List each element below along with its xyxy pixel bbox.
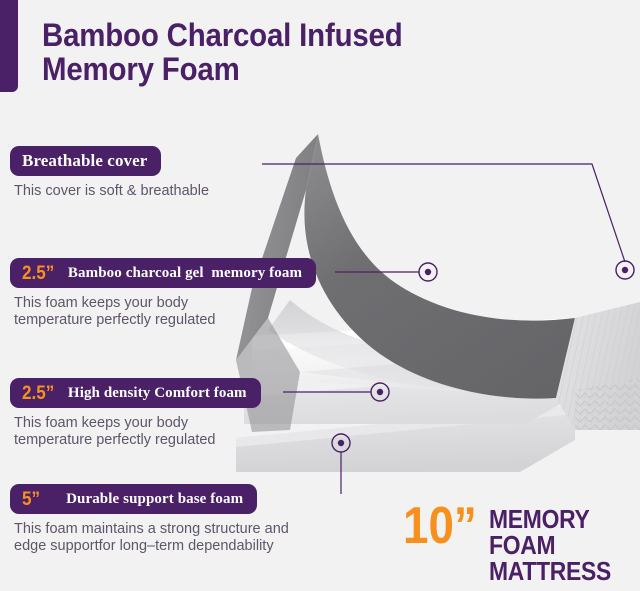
connector-lines <box>262 164 625 494</box>
marker-breathable-cover <box>616 261 634 279</box>
badge-breathable-cover[interactable]: Breathable cover <box>10 146 161 176</box>
connector-markers <box>332 261 634 452</box>
callout-comfort-foam: 2.5” High density Comfort foam This foam… <box>10 378 261 449</box>
marker-base-foam <box>332 434 350 452</box>
badge-gel-memory-foam[interactable]: 2.5” Bamboo charcoal gel memory foam <box>10 258 316 288</box>
badge-label: Breathable cover <box>22 153 147 169</box>
layer-comfort-foam <box>244 360 583 424</box>
callout-gel-memory-foam: 2.5” Bamboo charcoal gel memory foam Thi… <box>10 258 316 329</box>
badge-size: 2.5” <box>22 264 54 283</box>
product-name: MEMORY FOAM MATTRESS <box>489 506 622 584</box>
badge-label: High density Comfort foam <box>68 385 247 401</box>
badge-label: Durable support base foam <box>66 491 243 507</box>
marker-gel-memory-foam <box>419 263 437 281</box>
callout-description: This foam keeps your body temperature pe… <box>14 295 316 329</box>
connector-breathable-cover <box>262 164 625 262</box>
badge-label: Bamboo charcoal gel memory foam <box>68 265 302 281</box>
title-accent-bar <box>0 0 18 92</box>
layer-base-foam <box>236 405 575 472</box>
infographic-page: Bamboo Charcoal Infused Memory Foam <box>0 0 640 591</box>
side-fabric-panel <box>556 302 640 430</box>
callout-description: This foam maintains a strong structure a… <box>14 521 289 555</box>
callout-base-foam: 5” Durable support base foam This foam m… <box>10 484 289 555</box>
callout-breathable-cover: Breathable cover This cover is soft & br… <box>10 146 209 200</box>
badge-size: 2.5” <box>22 384 54 403</box>
badge-comfort-foam[interactable]: 2.5” High density Comfort foam <box>10 378 261 408</box>
callout-description: This cover is soft & breathable <box>14 183 209 200</box>
cover-sheet <box>304 134 575 399</box>
product-size-block: 10” MEMORY FOAM MATTRESS <box>403 503 640 584</box>
marker-comfort-foam <box>371 383 389 401</box>
badge-base-foam[interactable]: 5” Durable support base foam <box>10 484 257 514</box>
layer-gel-memory-foam <box>252 318 575 392</box>
page-title: Bamboo Charcoal Infused Memory Foam <box>42 18 474 86</box>
callout-description: This foam keeps your body temperature pe… <box>14 415 261 449</box>
product-thickness: 10” <box>403 503 477 549</box>
badge-size: 5” <box>22 490 40 509</box>
